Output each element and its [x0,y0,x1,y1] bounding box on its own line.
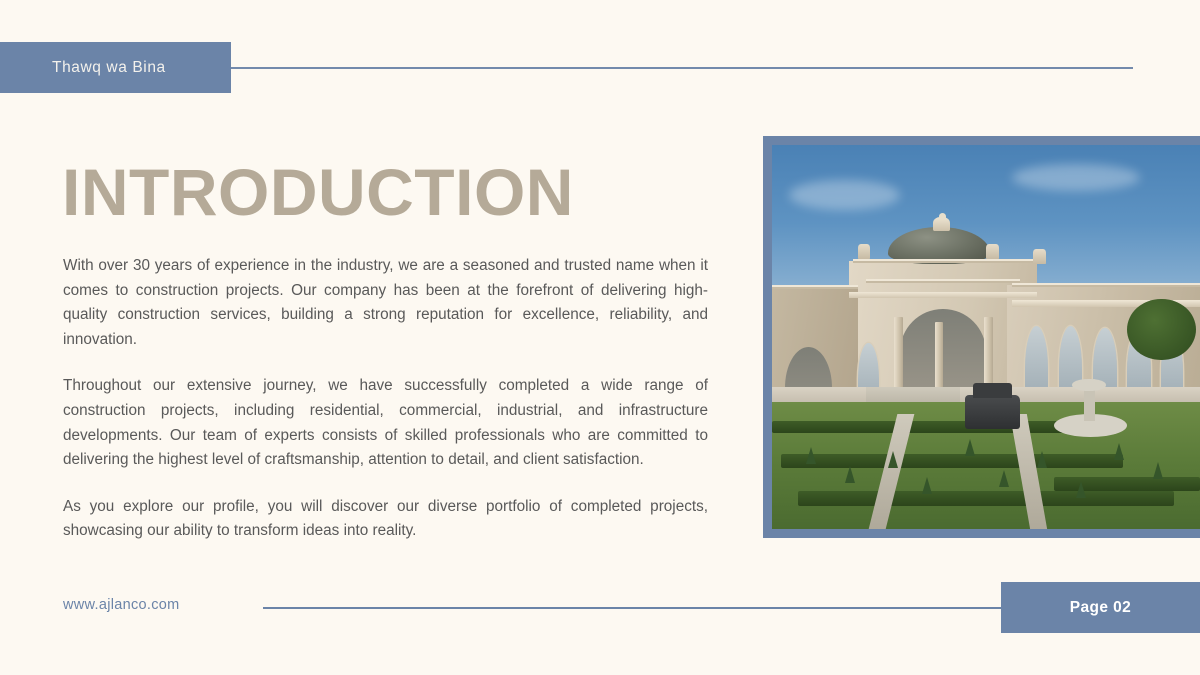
page-title: INTRODUCTION [62,159,574,225]
body-copy: With over 30 years of experience in the … [63,254,708,544]
hedge-row [798,491,1175,506]
footer-divider-rule [263,607,1001,609]
cloud-shape [1012,164,1140,191]
cloud-shape [789,180,900,211]
body-paragraph-1: With over 30 years of experience in the … [63,254,708,352]
topiary-cone [806,447,816,464]
topiary-cone [922,477,932,494]
body-paragraph-2: Throughout our extensive journey, we hav… [63,374,708,472]
fountain-tier [1072,379,1106,391]
topiary-cone [999,470,1009,487]
parked-suv [965,395,1021,430]
tree [1127,299,1195,360]
page-number-label: Page 02 [1070,599,1131,617]
hedge-row [781,454,1123,467]
balustrade [853,259,1033,263]
header-divider-rule [231,67,1133,69]
turret [1033,249,1046,264]
suv-roof [973,383,1012,398]
hedge-row [772,421,1080,433]
mansion-photo [772,145,1200,529]
turret [986,244,999,259]
topiary-cone [845,466,855,483]
balustrade [1012,283,1200,287]
topiary-cone [1114,443,1124,460]
dome [888,227,991,264]
topiary-cone [1153,462,1163,479]
page-number-badge: Page 02 [1001,582,1200,633]
topiary-cone [888,451,898,468]
turret [858,244,871,259]
slide-canvas: Thawq wa Bina INTRODUCTION With over 30 … [0,0,1200,675]
cupola [933,217,951,231]
balustrade [772,285,858,289]
topiary-cone [1076,481,1086,498]
body-paragraph-3: As you explore our profile, you will dis… [63,495,708,544]
topiary-cone [1037,451,1047,468]
balustrade [866,279,1020,283]
header-badge-label: Thawq wa Bina [0,59,166,77]
cornice [849,292,1037,298]
entry-arch [900,309,986,395]
topiary-cone [965,439,975,456]
finial [939,213,946,219]
footer-website-url[interactable]: www.ajlanco.com [63,597,180,613]
photo-frame [763,136,1200,538]
header-badge: Thawq wa Bina [0,42,231,93]
